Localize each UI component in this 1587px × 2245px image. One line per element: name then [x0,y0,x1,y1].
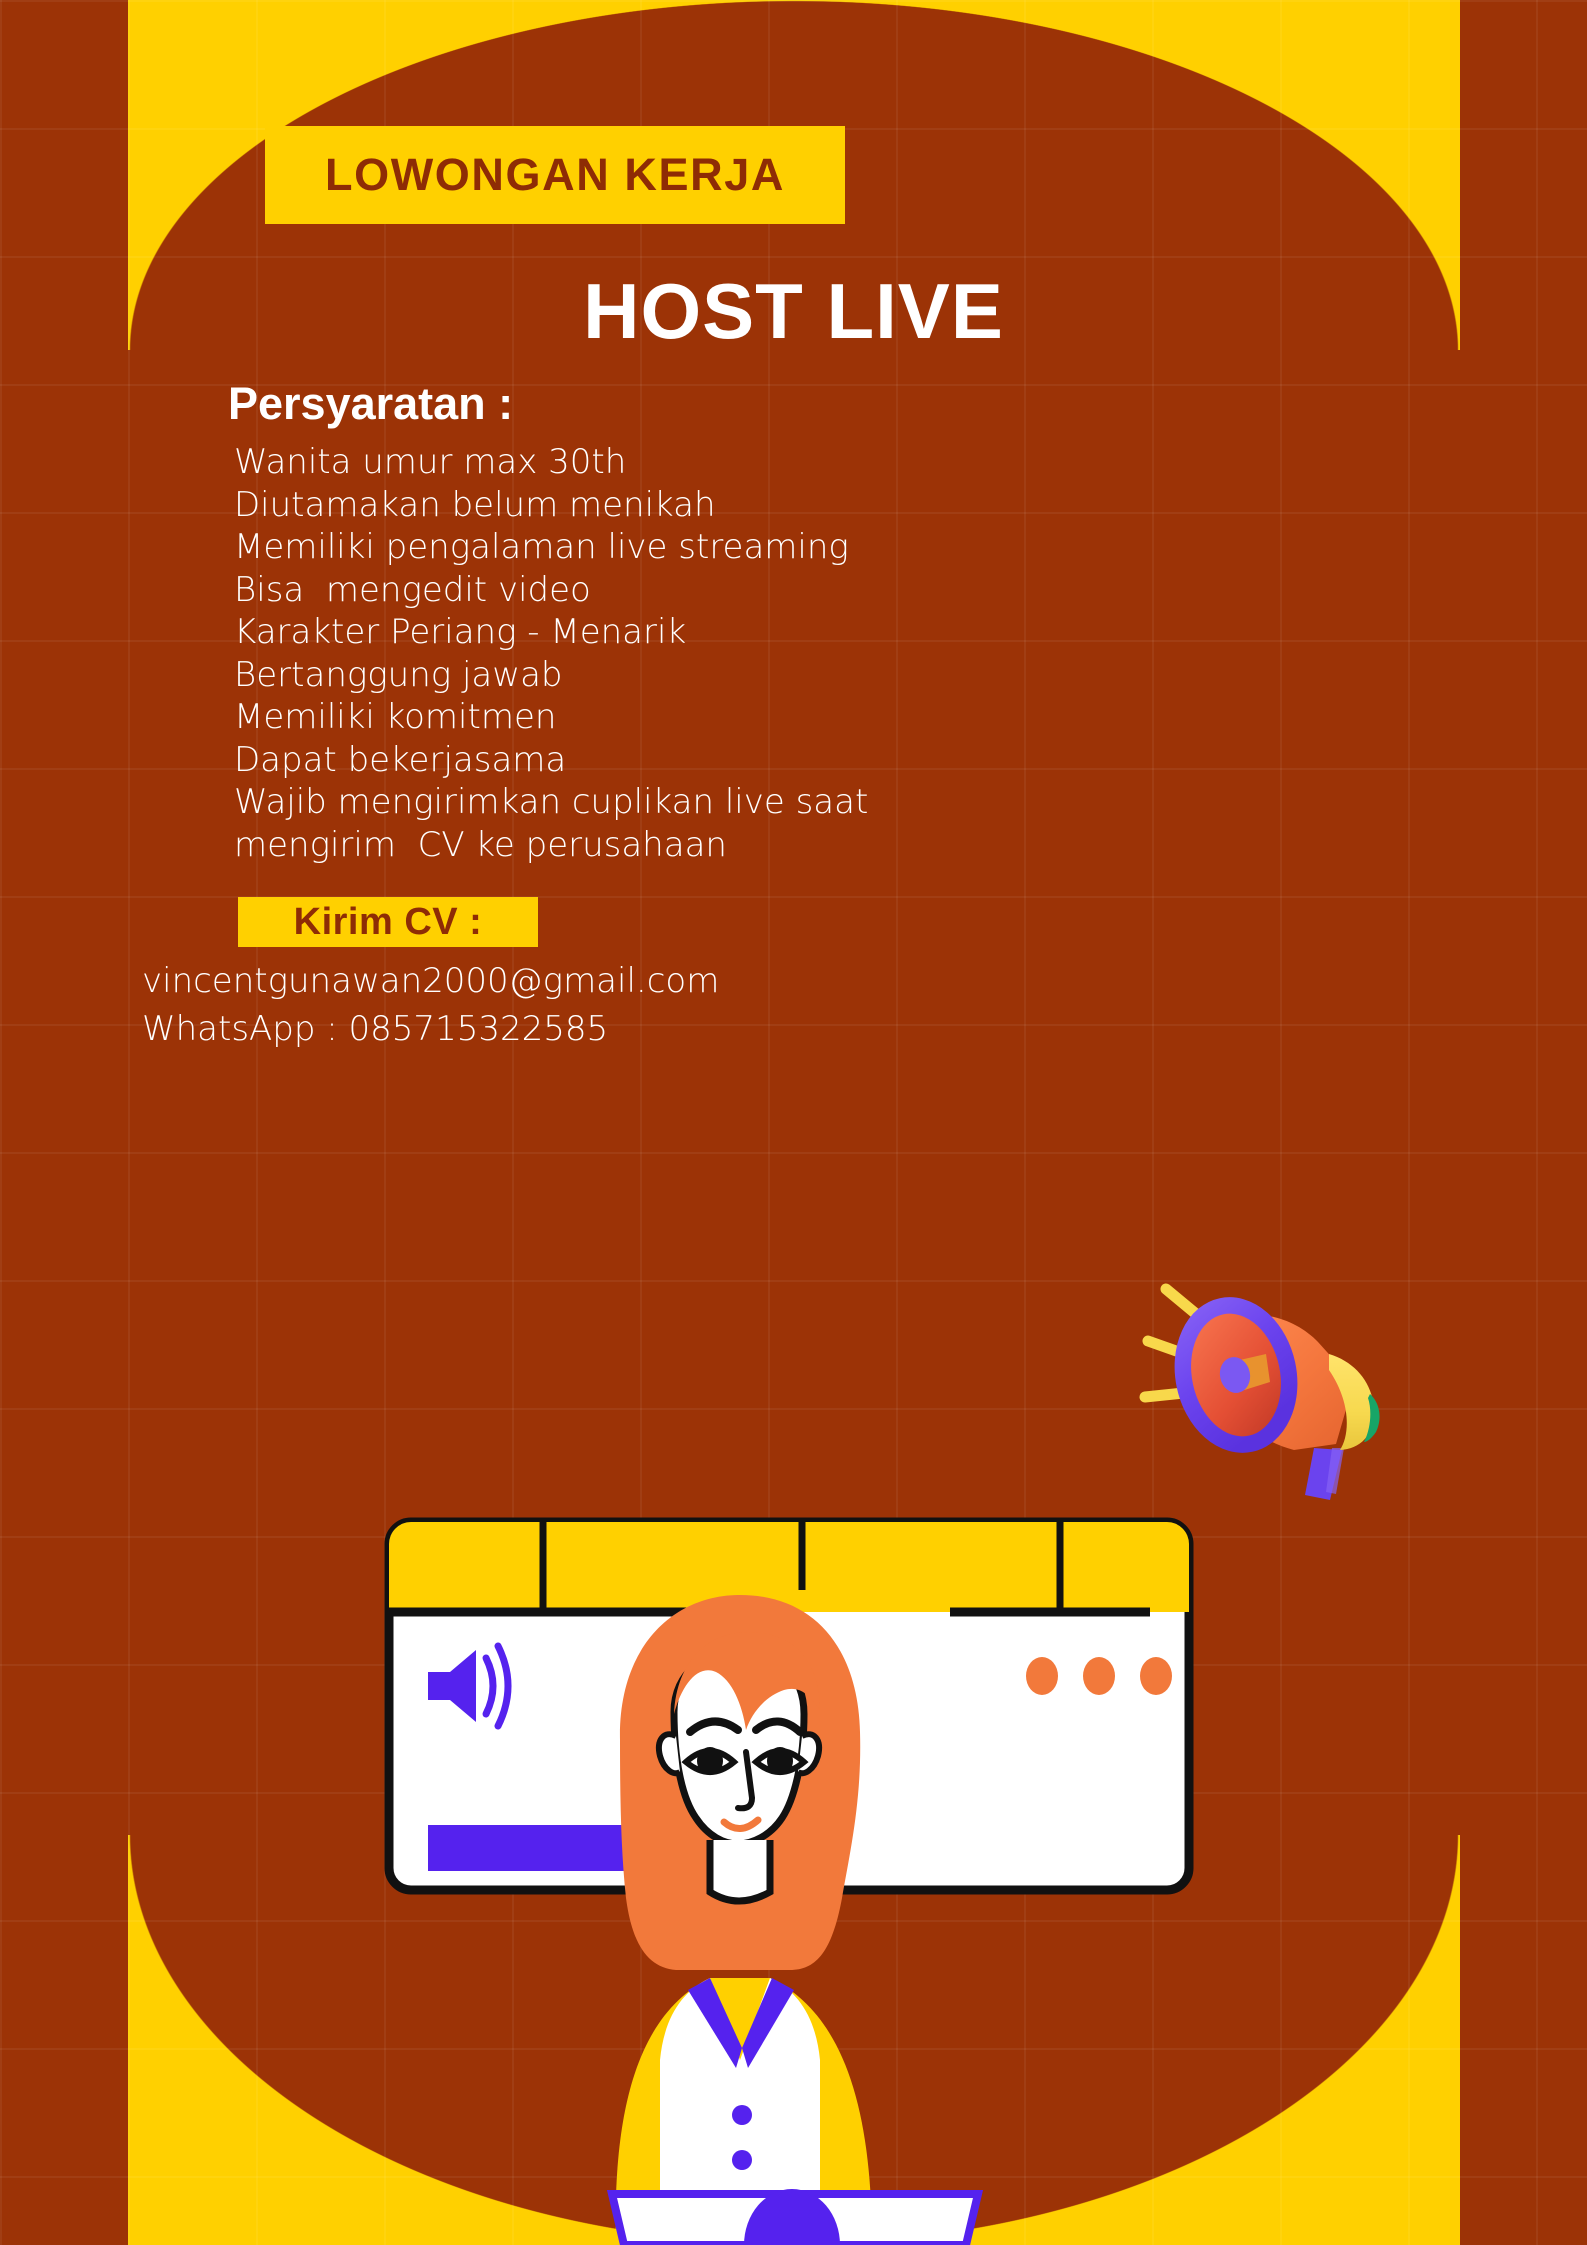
stream-window-titlebar [389,1522,1189,1612]
whatsapp-text[interactable]: WhatsApp : 085715322585 [142,1005,719,1053]
live-stream-window-illustration [380,1500,1198,2245]
button [732,2150,752,2170]
list-item: Wanita umur max 30th [234,441,868,484]
email-text[interactable]: vincentgunawan2000@gmail.com [142,957,719,1005]
list-item: mengirim CV ke perusahaan [234,824,868,867]
list-item: Wajib mengirimkan cuplikan live saat [234,781,868,824]
list-item: Memiliki pengalaman live streaming [234,526,868,569]
requirements-list: Wanita umur max 30th Diutamakan belum me… [234,441,868,866]
progress-bar [428,1825,640,1871]
contact-info: vincentgunawan2000@gmail.com WhatsApp : … [142,957,719,1053]
poster-canvas: LOWONGAN KERJA HOST LIVE Persyaratan : W… [0,0,1587,2245]
page-title: HOST LIVE [0,266,1587,357]
megaphone-icon [1118,1242,1418,1502]
three-dots-icon [1026,1657,1172,1695]
list-item: Bisa mengedit video [234,569,868,612]
list-item: Memiliki komitmen [234,696,868,739]
list-item: Dapat bekerjasama [234,739,868,782]
button [732,2105,752,2125]
list-item: Karakter Periang - Menarik [234,611,868,654]
woman-live-host-illustration [616,1595,872,2245]
kirim-cv-badge: Kirim CV : [238,897,538,947]
laptop-illustration [612,2189,978,2245]
banner-label: LOWONGAN KERJA [325,149,785,201]
kirim-cv-label: Kirim CV : [294,901,483,944]
lowongan-kerja-banner: LOWONGAN KERJA [265,126,845,224]
list-item: Bertanggung jawab [234,654,868,697]
list-item: Diutamakan belum menikah [234,484,868,527]
requirements-heading: Persyaratan : [228,378,513,430]
